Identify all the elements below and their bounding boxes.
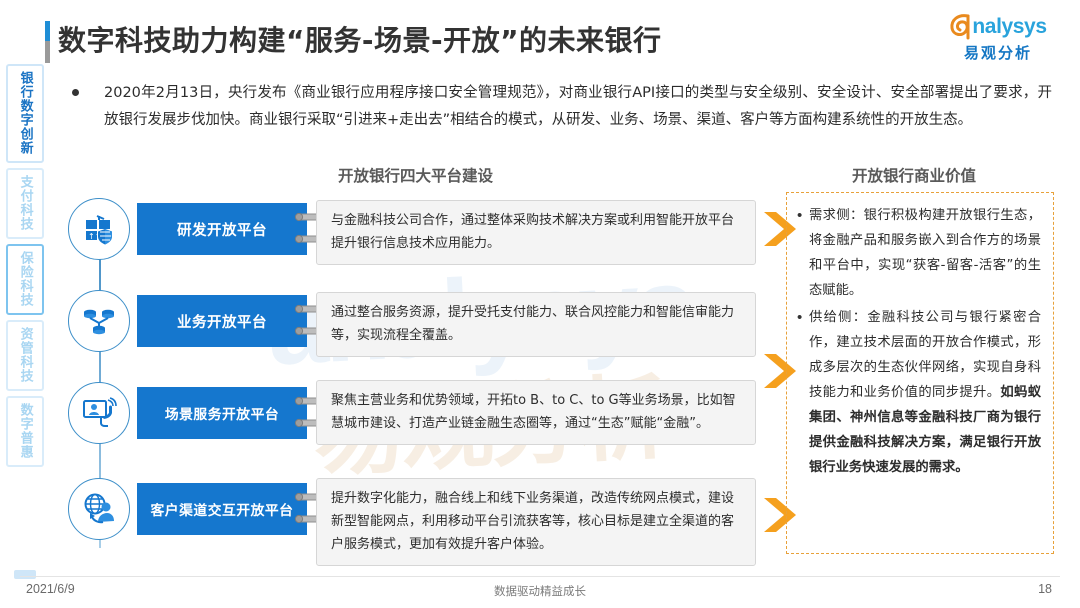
sidebar-item-digital-inclusive-finance[interactable]: 数字普惠 [6,396,44,467]
value-list-item: • 供给侧：金融科技公司与银行紧密合作，建立技术层面的开放合作模式，形成多层次的… [797,305,1041,480]
coins-flow-icon [68,290,130,352]
user-screen-icon [68,382,130,444]
sidebar-item-label: 数字普惠 [17,403,32,459]
page-footer: 2021/6/9 数据驱动精益成长 18 [0,576,1080,608]
heading-right-column: 开放银行商业价值 [852,164,976,186]
intro-paragraph: 2020年2月13日，央行发布《商业银行应用程序接口安全管理规范》，对商业银行A… [72,80,1052,134]
platform-description: 与金融科技公司合作，通过整体采购技术解决方案或利用智能开放平台提升银行信息技术应… [316,200,756,265]
intro-text: 2020年2月13日，央行发布《商业银行应用程序接口安全管理规范》，对商业银行A… [104,80,1052,134]
sidebar-item-label: 支付科技 [17,175,32,231]
sidebar-item-label: 资管科技 [17,327,32,383]
page-title: 数字科技助力构建“服务-场景-开放”的未来银行 [58,19,662,59]
logo-chinese-name: 易观分析 [934,42,1062,63]
value-item-text: 供给侧：金融科技公司与银行紧密合作，建立技术层面的开放合作模式，形成多层次的生态… [809,305,1041,480]
bullet-dot-icon: • [797,203,809,303]
business-value-panel: • 需求侧：银行积极构建开放银行生态，将金融产品和服务嵌入到合作方的场景和平台中… [786,192,1054,554]
platform-name-badge[interactable]: 场景服务开放平台 [137,387,307,439]
sidebar-item-payment-tech[interactable]: 支付科技 [6,168,44,239]
bank-shield-icon: ↑↑ [68,198,130,260]
bullet-dot-icon [72,89,79,96]
title-accent-bar [45,21,50,63]
analysys-logo: nalysys 易观分析 [934,12,1062,64]
heading-left-column: 开放银行四大平台建设 [338,164,493,186]
sidebar-footer-tab [14,570,36,579]
footer-slogan: 数据驱动精益成长 [0,583,1080,599]
platform-description: 通过整合服务资源，提升受托支付能力、联合风控能力和智能信审能力等，实现流程全覆盖… [316,292,756,357]
left-sidebar-nav[interactable]: 银行数字创新 支付科技 保险科技 资管科技 数字普惠 [6,64,48,472]
logo-wordmark: nalysys [972,16,1046,37]
sidebar-item-label: 银行数字创新 [17,71,32,155]
sidebar-item-label: 保险科技 [17,251,32,307]
platform-name-badge[interactable]: 研发开放平台 [137,203,307,255]
sidebar-item-banking-digital-innovation[interactable]: 银行数字创新 [6,64,44,163]
page-header: 数字科技助力构建“服务-场景-开放”的未来银行 nalysys 易观分析 [0,0,1080,70]
value-item-text: 需求侧：银行积极构建开放银行生态，将金融产品和服务嵌入到合作方的场景和平台中，实… [809,203,1041,303]
sidebar-item-asset-management-tech[interactable]: 资管科技 [6,320,44,391]
value-list-item: • 需求侧：银行积极构建开放银行生态，将金融产品和服务嵌入到合作方的场景和平台中… [797,203,1041,303]
platform-description: 提升数字化能力，融合线上和线下业务渠道，改造传统网点模式，建设新型智能网点，利用… [316,478,756,566]
platform-description: 聚焦主营业务和优势领域，开拓to B、to C、to G等业务场景，比如智慧城市… [316,380,756,445]
globe-user-icon [68,478,130,540]
platform-name-badge[interactable]: 业务开放平台 [137,295,307,347]
sidebar-item-insurance-tech[interactable]: 保险科技 [6,244,44,315]
footer-page-number: 18 [1038,582,1052,596]
footer-divider [20,576,1060,577]
platform-name-badge[interactable]: 客户渠道交互开放平台 [137,483,307,535]
bullet-dot-icon: • [797,305,809,480]
